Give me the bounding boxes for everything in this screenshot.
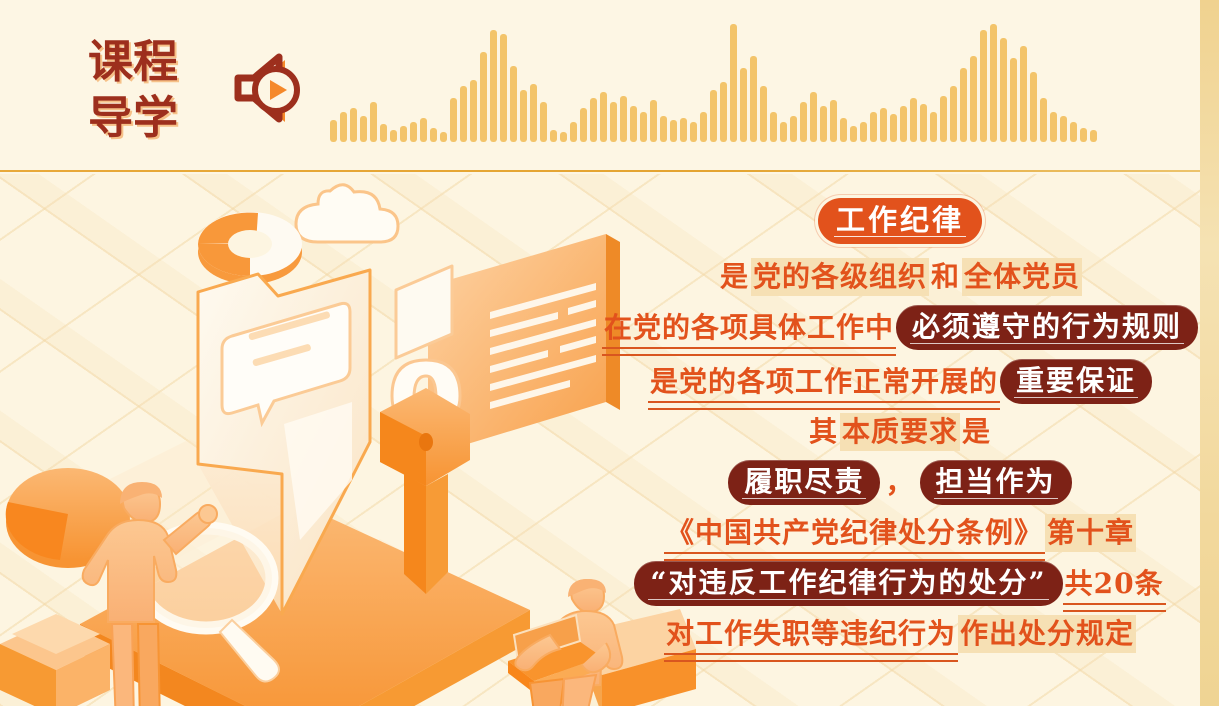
waveform-bar <box>960 68 967 142</box>
text-segment-comma: ， <box>880 465 919 501</box>
waveform-bar <box>330 120 337 142</box>
waveform-bar <box>750 56 757 142</box>
waveform-bar <box>740 68 747 142</box>
text-segment-plain: 是 <box>960 413 993 451</box>
logo-line-2: 导学 <box>88 92 203 142</box>
text-segment-pill: 担当作为 <box>920 460 1072 505</box>
waveform-bar <box>1080 128 1087 142</box>
waveform-bar <box>510 66 517 142</box>
text-line-line2: 是党的各级组织和全体党员 <box>718 258 1082 296</box>
logo-line-1: 课程 <box>88 36 203 86</box>
waveform-bar <box>570 122 577 142</box>
donut-chart <box>198 212 302 284</box>
header-bar: 课程 导学 <box>0 0 1219 172</box>
waveform-bar <box>850 126 857 142</box>
main-content: 工作纪律是党的各级组织和全体党员在党的各项具体工作中必须遵守的行为规则是党的各项… <box>0 174 1219 706</box>
waveform-bar <box>990 24 997 142</box>
text-line-line9: 对工作失职等违纪行为作出处分规定 <box>664 615 1136 653</box>
waveform-bar <box>940 96 947 142</box>
waveform-bar <box>980 30 987 142</box>
waveform-bar <box>770 112 777 142</box>
waveform-bar <box>760 86 767 142</box>
text-line-line3: 在党的各项具体工作中必须遵守的行为规则 <box>602 305 1198 350</box>
text-segment-highlight: 党的各级组织 <box>751 258 929 296</box>
waveform-bar <box>1050 112 1057 142</box>
text-segment-underline-double: 是党的各项工作正常开展的 <box>648 363 1000 401</box>
waveform-bar <box>540 102 547 142</box>
waveform-bar <box>470 80 477 142</box>
isometric-office-data-illustration <box>0 174 700 706</box>
text-segment-underline-double: 对工作失职等违纪行为 <box>664 615 958 653</box>
right-edge-stripe <box>1200 0 1219 706</box>
waveform-bar <box>500 34 507 142</box>
waveform-bar <box>1010 58 1017 142</box>
waveform-bar <box>440 132 447 142</box>
waveform-bar <box>860 122 867 142</box>
waveform-bar <box>1030 72 1037 142</box>
text-segment-pill: “对违反工作纪律行为的处分” <box>634 561 1062 606</box>
waveform-bar <box>340 112 347 142</box>
waveform-bar <box>560 132 567 142</box>
waveform-bar <box>370 102 377 142</box>
waveform-bar <box>920 104 927 142</box>
text-segment-plain: 是 <box>718 258 751 296</box>
waveform-bar <box>530 84 537 142</box>
waveform-bar <box>490 30 497 142</box>
text-segment-underline-double: 《中国共产党纪律处分条例》 <box>664 514 1045 552</box>
waveform-bar <box>780 122 787 142</box>
statement-text-block: 工作纪律是党的各级组织和全体党员在党的各项具体工作中必须遵守的行为规则是党的各项… <box>600 174 1200 706</box>
waveform-bar <box>820 106 827 142</box>
cloud-shape <box>296 185 398 242</box>
waveform-bar <box>400 126 407 142</box>
header-divider <box>0 170 1208 172</box>
waveform-bar <box>380 124 387 142</box>
waveform-bar <box>450 98 457 142</box>
waveform-bar <box>870 112 877 142</box>
waveform-bar <box>840 118 847 142</box>
waveform-bar <box>650 100 657 142</box>
text-line-line6: 履职尽责，担当作为 <box>728 460 1071 505</box>
waveform-bar <box>520 90 527 142</box>
text-segment-pill: 履职尽责 <box>728 460 880 505</box>
waveform-bar <box>1070 122 1077 142</box>
logo-text-line1: 课程 <box>88 38 178 86</box>
waveform-bar <box>640 112 647 142</box>
audio-waveform <box>330 36 1120 142</box>
text-segment-highlight: 作出处分规定 <box>958 615 1136 653</box>
waveform-bar <box>420 118 427 142</box>
waveform-bar <box>550 130 557 142</box>
text-segment-plain: 其 <box>807 413 840 451</box>
waveform-bar <box>790 116 797 142</box>
waveform-bar <box>390 130 397 142</box>
text-segment-pill-orange: 工作纪律 <box>818 198 982 244</box>
waveform-bar <box>630 106 637 142</box>
course-guide-logo: 课程 导学 <box>88 36 203 140</box>
text-line-line5: 其本质要求是 <box>807 413 993 451</box>
poster-canvas: 课程 导学 <box>0 0 1219 706</box>
waveform-bar <box>610 102 617 142</box>
waveform-bar <box>710 90 717 142</box>
waveform-bar <box>600 92 607 142</box>
speaker-play-icon[interactable] <box>226 50 308 132</box>
waveform-bar <box>1090 130 1097 142</box>
waveform-bar <box>670 120 677 142</box>
waveform-bar <box>880 108 887 142</box>
waveform-bar <box>460 86 467 142</box>
waveform-bar <box>690 122 697 142</box>
waveform-bar <box>800 102 807 142</box>
waveform-bar <box>910 98 917 142</box>
text-segment-highlight: 第十章 <box>1045 514 1136 552</box>
waveform-bar <box>680 118 687 142</box>
waveform-bar <box>1020 46 1027 142</box>
logo-text-line2: 导学 <box>88 94 178 142</box>
waveform-bar <box>1000 38 1007 142</box>
waveform-bar <box>810 92 817 142</box>
waveform-bar <box>900 106 907 142</box>
text-segment-underline-double: 在党的各项具体工作中 <box>602 309 896 347</box>
waveform-bar <box>700 112 707 142</box>
text-segment-underline-double: 共20条 <box>1063 565 1166 603</box>
waveform-bar <box>930 112 937 142</box>
waveform-bar <box>410 122 417 142</box>
waveform-bar <box>360 116 367 142</box>
waveform-bar <box>1060 116 1067 142</box>
waveform-bar <box>480 52 487 142</box>
text-line-line4: 是党的各项工作正常开展的重要保证 <box>648 359 1152 404</box>
waveform-bar <box>660 116 667 142</box>
text-segment-highlight: 全体党员 <box>962 258 1082 296</box>
waveform-bar <box>730 24 737 142</box>
text-segment-pill: 必须遵守的行为规则 <box>896 305 1198 350</box>
waveform-bar <box>950 86 957 142</box>
waveform-bar <box>620 96 627 142</box>
text-line-line7: 《中国共产党纪律处分条例》第十章 <box>664 514 1136 552</box>
waveform-bar <box>580 108 587 142</box>
waveform-bar <box>590 98 597 142</box>
waveform-bar <box>890 114 897 142</box>
text-segment-highlight: 本质要求 <box>840 413 960 451</box>
text-segment-pill: 重要保证 <box>1000 359 1152 404</box>
waveform-bar <box>830 100 837 142</box>
waveform-bar <box>720 82 727 142</box>
text-line-line8: “对违反工作纪律行为的处分”共20条 <box>634 561 1165 606</box>
waveform-bar <box>430 128 437 142</box>
text-line-title: 工作纪律 <box>818 198 982 244</box>
waveform-bar <box>350 108 357 142</box>
text-segment-plain: 和 <box>929 258 962 296</box>
waveform-bar <box>1040 98 1047 142</box>
waveform-bar <box>970 56 977 142</box>
